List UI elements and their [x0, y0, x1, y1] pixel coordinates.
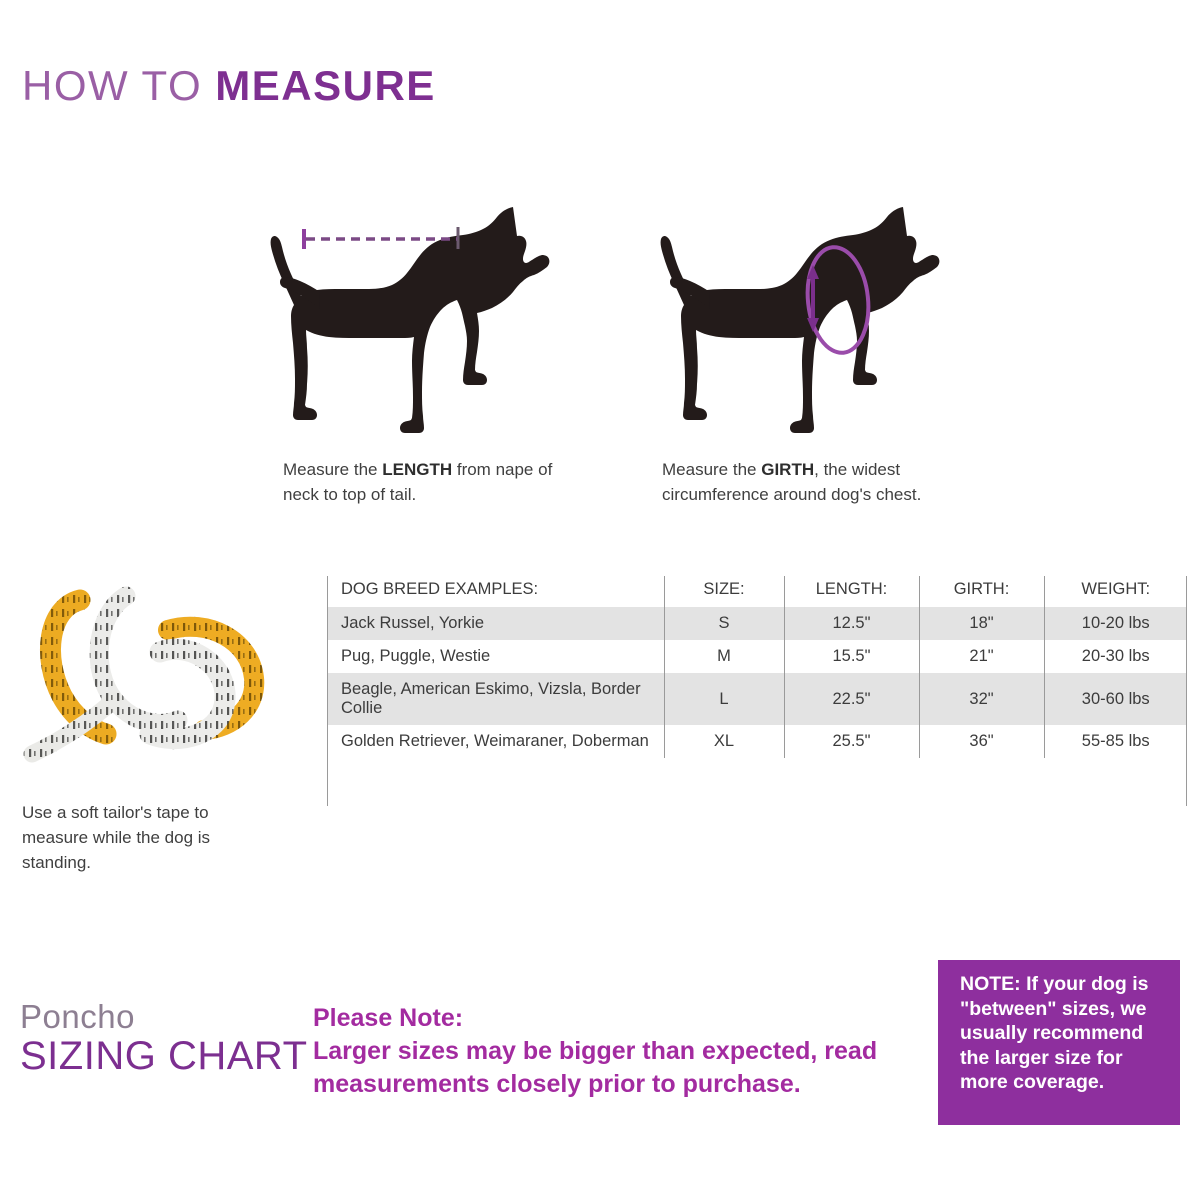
cell-weight: 20-30 lbs [1044, 640, 1187, 673]
length-caption: Measure the LENGTH from nape of neck to … [283, 458, 573, 507]
table-row: Beagle, American Eskimo, Vizsla, Border … [327, 673, 1187, 725]
page-title-bold: MEASURE [215, 62, 436, 109]
cell-girth: 36" [919, 725, 1044, 758]
dog-silhouette-girth-icon [648, 185, 948, 445]
table-row: Jack Russel, Yorkie S 12.5" 18" 10-20 lb… [327, 607, 1187, 640]
brand-product-name: Poncho [20, 1000, 308, 1035]
table-row: Golden Retriever, Weimaraner, Doberman X… [327, 725, 1187, 758]
girth-caption-term: GIRTH [761, 460, 814, 479]
brand-chart-title: SIZING CHART [20, 1035, 308, 1077]
girth-caption: Measure the GIRTH, the widest circumfere… [662, 458, 952, 507]
cell-girth: 18" [919, 607, 1044, 640]
cell-size: S [664, 607, 784, 640]
please-note-heading: Please Note: [313, 1002, 913, 1035]
table-header: DOG BREED EXAMPLES: SIZE: LENGTH: GIRTH:… [327, 576, 1187, 607]
column-header-weight: WEIGHT: [1044, 576, 1187, 607]
size-table-container: DOG BREED EXAMPLES: SIZE: LENGTH: GIRTH:… [327, 576, 1187, 806]
length-caption-term: LENGTH [382, 460, 452, 479]
column-header-size: SIZE: [664, 576, 784, 607]
table-left-border [327, 576, 328, 806]
cell-weight: 10-20 lbs [1044, 607, 1187, 640]
tape-measure-illustration [18, 578, 280, 778]
size-table: DOG BREED EXAMPLES: SIZE: LENGTH: GIRTH:… [327, 576, 1187, 758]
column-header-breed: DOG BREED EXAMPLES: [327, 576, 664, 607]
length-illustration [258, 185, 558, 445]
note-callout-box: NOTE: If your dog is "between" sizes, we… [938, 960, 1180, 1125]
table-right-border [1186, 576, 1187, 806]
girth-caption-pre: Measure the [662, 460, 761, 479]
table-header-row: DOG BREED EXAMPLES: SIZE: LENGTH: GIRTH:… [327, 576, 1187, 607]
dog-silhouette-length-icon [258, 185, 558, 445]
cell-breed: Pug, Puggle, Westie [327, 640, 664, 673]
cell-breed: Beagle, American Eskimo, Vizsla, Border … [327, 673, 664, 725]
column-header-length: LENGTH: [784, 576, 919, 607]
brand-block: Poncho SIZING CHART [20, 1000, 308, 1077]
page-title-light: HOW TO [22, 62, 215, 109]
length-caption-pre: Measure the [283, 460, 382, 479]
cell-girth: 21" [919, 640, 1044, 673]
cell-weight: 30-60 lbs [1044, 673, 1187, 725]
cell-weight: 55-85 lbs [1044, 725, 1187, 758]
table-row: Pug, Puggle, Westie M 15.5" 21" 20-30 lb… [327, 640, 1187, 673]
table-body: Jack Russel, Yorkie S 12.5" 18" 10-20 lb… [327, 607, 1187, 758]
cell-size: XL [664, 725, 784, 758]
page-title: HOW TO MEASURE [22, 62, 436, 110]
cell-size: L [664, 673, 784, 725]
cell-length: 12.5" [784, 607, 919, 640]
cell-size: M [664, 640, 784, 673]
column-header-girth: GIRTH: [919, 576, 1044, 607]
please-note-body: Larger sizes may be bigger than expected… [313, 1037, 877, 1098]
cell-breed: Jack Russel, Yorkie [327, 607, 664, 640]
cell-breed: Golden Retriever, Weimaraner, Doberman [327, 725, 664, 758]
tape-measure-icon [18, 578, 280, 778]
tape-caption: Use a soft tailor's tape to measure whil… [22, 800, 272, 875]
cell-length: 25.5" [784, 725, 919, 758]
cell-length: 22.5" [784, 673, 919, 725]
please-note-block: Please Note: Larger sizes may be bigger … [313, 1002, 913, 1101]
cell-length: 15.5" [784, 640, 919, 673]
girth-illustration [648, 185, 948, 445]
cell-girth: 32" [919, 673, 1044, 725]
